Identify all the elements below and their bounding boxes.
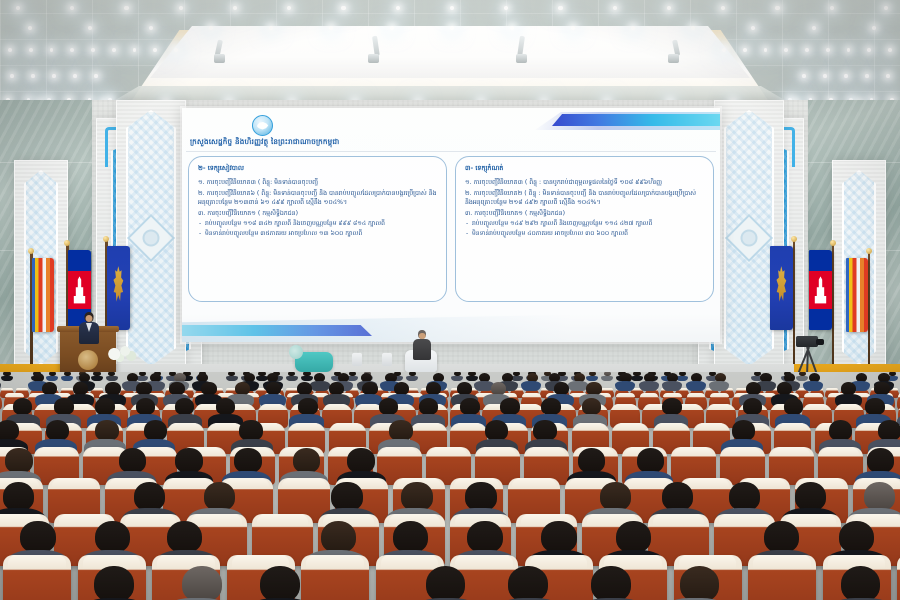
stage-plant	[289, 345, 303, 359]
attendee-shoulders	[0, 381, 1, 390]
attendee-shoulders	[709, 381, 729, 390]
panel-diamond-left	[127, 214, 175, 262]
decor-panel-left-3	[116, 100, 186, 376]
ceiling-downlight	[149, 26, 153, 30]
ceiling-downlight	[613, 6, 617, 10]
column-line: ១. ការចុះបញ្ជីវិនិយោគ៣ ( ពិន្ទុ : បានបូក…	[465, 178, 704, 188]
attendee-head	[426, 566, 466, 600]
attendee-head	[175, 398, 194, 415]
attendee-shoulders	[615, 381, 635, 390]
ceiling-downlight	[94, 74, 98, 78]
institutional-flag-left	[107, 246, 130, 330]
attendee-head	[119, 448, 146, 473]
attendee-head	[784, 398, 803, 415]
ceiling-downlight	[805, 48, 809, 52]
ceiling-downlight	[722, 48, 726, 52]
attendee-head	[460, 398, 479, 415]
attendee-head	[175, 448, 202, 473]
ceiling-downlight	[174, 48, 178, 52]
attendee-head	[134, 482, 165, 511]
seat-unit	[0, 588, 70, 600]
attendee-head	[829, 420, 852, 441]
attendee-head	[500, 398, 519, 415]
institutional-flag-right	[770, 246, 793, 330]
column-line: ៣. ការចុះបញ្ជីវិនិយោគ១ ( កម្មសិទ្ធិឯកជន)	[465, 209, 704, 219]
attendee-head	[508, 566, 548, 600]
attendee-head	[95, 398, 114, 415]
spotlight-head	[214, 54, 225, 63]
ceiling-downlight	[31, 74, 35, 78]
ceiling-downlight	[28, 26, 32, 30]
attendee-head	[485, 420, 508, 441]
attendee-head	[239, 420, 262, 441]
podium-emblem-icon	[78, 350, 98, 370]
attendee-head	[136, 398, 155, 415]
ceiling-downlight	[179, 6, 183, 10]
seat-unit	[824, 588, 900, 600]
ceiling-downlight	[10, 74, 14, 78]
attendee-head	[298, 398, 317, 415]
attendee-head	[582, 398, 601, 415]
spotlight-head	[516, 54, 527, 63]
attendee-shoulders	[662, 381, 682, 390]
seat-unit	[326, 588, 402, 600]
ceiling-downlight	[571, 26, 575, 30]
podium-flowers	[104, 342, 138, 362]
slide-accent-band-top-right	[552, 114, 720, 126]
podium-speaker	[78, 312, 100, 342]
attendee-head	[293, 448, 320, 473]
attendee-shoulders	[521, 381, 541, 390]
attendee-head	[331, 482, 362, 511]
attendee-head	[95, 521, 130, 553]
ceiling-downlight	[826, 48, 830, 52]
column-bullet: មិនទាន់រាប់បញ្ចូលបន្ថែម ៣៥ភាគរយ អាចប្រហែ…	[198, 229, 437, 238]
column-bullet: រាប់បញ្ចូលបន្ថែម ១១៨ ៣៤២ ក្បាលពី និងចេញប…	[198, 219, 437, 228]
attendee-head	[182, 566, 222, 600]
column-bullet: មិនទាន់រាប់បញ្ចូលបន្ថែម ៤០ភាគរយ អាចប្រហែ…	[465, 229, 704, 238]
ceiling-downlight	[390, 26, 394, 30]
ceiling-downlight	[802, 74, 806, 78]
buddhist-flag-right	[846, 258, 868, 332]
stage-side-table-mid	[382, 353, 392, 366]
attendee-head	[867, 448, 894, 473]
conference-hall-photo: ក្រសួងសេដ្ឋកិច្ច និងហិរញ្ញវត្ថុ នៃព្រះរា…	[0, 0, 900, 600]
ceiling-downlight	[70, 48, 74, 52]
ceiling-downlight	[52, 74, 56, 78]
slide-columns: ២- ទេក្សុសៀវបាល ១. ការចុះបញ្ជីវិនិយោគ៣ (…	[188, 156, 714, 302]
attendee-head	[95, 420, 118, 441]
attendee-head	[600, 482, 631, 511]
attendee-head	[865, 398, 884, 415]
attendee-head	[795, 482, 826, 511]
attendee-head	[743, 398, 762, 415]
ceiling-downlight	[784, 48, 788, 52]
attendee-head	[465, 482, 496, 511]
attendee-head	[732, 420, 755, 441]
attendee-head	[680, 566, 720, 600]
ceiling-downlight	[631, 26, 635, 30]
attendee-head	[729, 482, 760, 511]
attendee-head	[379, 398, 398, 415]
cambodian-flag-right	[809, 250, 832, 330]
attendee-head	[764, 521, 799, 553]
ceiling-downlight	[153, 48, 157, 52]
ceiling-cove-inner	[150, 26, 750, 78]
attendee-head	[204, 482, 235, 511]
attendee-head	[347, 448, 374, 473]
ceiling-downlight	[91, 48, 95, 52]
ceiling-downlight	[743, 48, 747, 52]
attendee-head	[5, 448, 32, 473]
attendee-head	[533, 420, 556, 441]
column-line: ១. ការចុះបញ្ជីវិនិយោគ៣ ( ពិន្ទុ: មិនទាន់…	[198, 178, 437, 188]
attendee-head	[3, 482, 34, 511]
projection-screen: ក្រសួងសេដ្ឋកិច្ច និងហិរញ្ញវត្ថុ នៃព្រះរា…	[182, 108, 720, 342]
ceiling-downlight	[844, 74, 848, 78]
ceiling-downlight	[830, 6, 834, 10]
seat-unit	[741, 588, 817, 600]
ceiling-downlight	[124, 6, 128, 10]
attendee-head	[144, 420, 167, 441]
panel-diamond-right	[725, 214, 773, 262]
slide-column-left: ២- ទេក្សុសៀវបាល ១. ការចុះបញ្ជីវិនិយោគ៣ (…	[188, 156, 447, 302]
attendee-head	[389, 420, 412, 441]
attendee-shoulders	[639, 381, 659, 390]
attendee-head	[864, 482, 895, 511]
ceiling-downlight	[886, 74, 890, 78]
ceiling-downlight	[112, 48, 116, 52]
attendee-head	[20, 521, 55, 553]
column-heading: ២- ទេក្សុសៀវបាល	[198, 164, 437, 174]
seat-unit	[658, 588, 734, 600]
ceiling-downlight	[823, 74, 827, 78]
column-line: ២. ការចុះបញ្ជីវិនិយោគ២ ( ពិន្ទុ : មិនទាន…	[465, 189, 704, 208]
seat-unit	[575, 588, 651, 600]
slide-column-right: ៣- ទេក្សុកំណត់ ១. ការចុះបញ្ជីវិនិយោគ៣ ( …	[455, 156, 714, 302]
attendee-head	[94, 566, 134, 600]
ceiling-downlight	[450, 26, 454, 30]
seat-unit	[243, 588, 319, 600]
attendee-head	[841, 566, 881, 600]
column-line: ២. ការចុះបញ្ជីវិនិយោគ៦ ( ពិន្ទុ: មិនទាន់…	[198, 189, 437, 208]
column-line: ៣. ការចុះបញ្ជីវិនិយោគ១ ( កម្មសិទ្ធិឯកជន)	[198, 209, 437, 219]
attendee-head	[541, 521, 576, 553]
ceiling-downlight	[865, 74, 869, 78]
seat-unit	[160, 588, 236, 600]
ceiling-downlight	[812, 26, 816, 30]
stage-side-table-left	[352, 353, 362, 366]
ceiling-downlight	[558, 6, 562, 10]
ceiling-downlight	[396, 6, 400, 10]
attendee-head	[0, 420, 19, 441]
ceiling-downlight	[888, 48, 892, 52]
attendee-head	[13, 398, 32, 415]
ceiling-downlight	[73, 74, 77, 78]
attendee-head	[541, 398, 560, 415]
buddhist-flag-left	[32, 258, 54, 332]
seated-official	[412, 330, 432, 360]
ceiling-downlight	[29, 48, 33, 52]
attendee-shoulders	[686, 381, 706, 390]
seat-row	[0, 588, 900, 600]
attendee-head	[467, 521, 502, 553]
spotlight-head	[668, 54, 679, 63]
ceiling-downlight	[209, 26, 213, 30]
slide-diagonal-shade	[182, 312, 720, 342]
attendee-head	[839, 521, 874, 553]
seat-unit	[409, 588, 485, 600]
column-bullet: រាប់បញ្ចូលបន្ថែម ១៤៩ ២៩២ ក្បាលពី និងចេញប…	[465, 219, 704, 228]
attendee-head	[234, 448, 261, 473]
attendee-head	[878, 420, 900, 441]
ceiling-downlight	[775, 6, 779, 10]
attendee-head	[419, 398, 438, 415]
slide-title: ក្រសួងសេដ្ឋកិច្ច និងហិរញ្ញវត្ថុ នៃព្រះរា…	[190, 137, 339, 148]
attendee-head	[662, 398, 681, 415]
attendee-shoulders	[568, 381, 588, 390]
seat-unit	[492, 588, 568, 600]
attendee-head	[401, 482, 432, 511]
attendee-head	[321, 521, 356, 553]
spotlight-head	[368, 54, 379, 63]
decor-panel-right-3	[714, 100, 784, 376]
attendee-shoulders	[310, 381, 330, 390]
attendee-head	[591, 566, 631, 600]
attendee-head	[167, 521, 202, 553]
ceiling-downlight	[341, 6, 345, 10]
attendee-head	[616, 521, 651, 553]
attendee-head	[637, 448, 664, 473]
attendee-head	[662, 482, 693, 511]
slide-header-divider	[186, 151, 716, 152]
attendee-head	[46, 420, 69, 441]
attendee-shoulders	[803, 381, 823, 390]
column-heading: ៣- ទេក្សុកំណត់	[465, 164, 704, 174]
audience-seating-area	[0, 372, 900, 600]
attendee-head	[260, 566, 300, 600]
attendee-head	[578, 448, 605, 473]
attendee-head	[54, 398, 73, 415]
video-camera-icon	[796, 336, 818, 347]
ceiling-downlight	[872, 26, 876, 30]
attendee-head	[393, 521, 428, 553]
ceiling-downlight	[8, 48, 12, 52]
seat-unit	[77, 588, 153, 600]
attendee-head	[216, 398, 235, 415]
ceiling-downlight	[867, 48, 871, 52]
ministry-globe-icon	[252, 115, 273, 136]
